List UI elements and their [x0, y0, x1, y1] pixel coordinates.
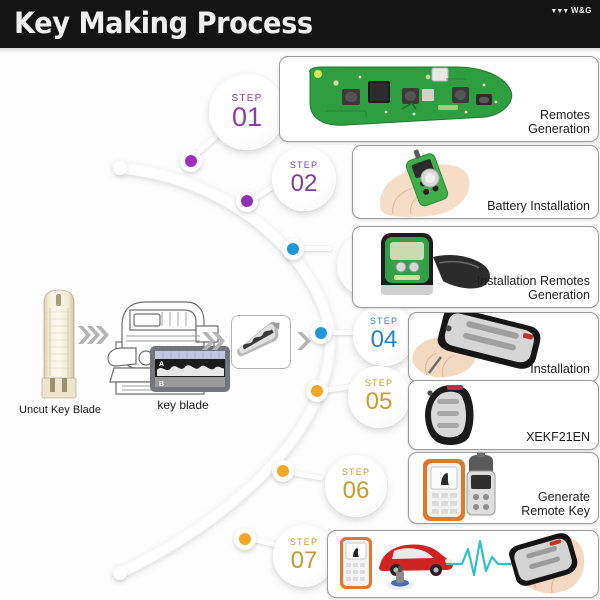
step-bubble-01[interactable]: STEP 01	[209, 74, 285, 150]
arc-dot-06-fill	[277, 465, 289, 477]
uncut-key-blade-caption: Uncut Key Blade	[14, 404, 106, 416]
arc-dot-04-fill	[315, 327, 327, 339]
chevron-arrow-3-icon	[296, 330, 312, 352]
programmer-car-signal-hand-remote-icon	[328, 531, 598, 597]
header-shadow	[0, 48, 600, 53]
arc-dot-05	[306, 380, 328, 402]
panel-04-caption: Installation	[530, 362, 590, 376]
connector-stub-03	[302, 246, 332, 251]
display-label-a: A	[159, 361, 164, 368]
arc-dot-05-fill	[311, 385, 323, 397]
panel-02-caption: Battery Installation	[487, 199, 590, 213]
arc-dot-01-fill	[185, 155, 197, 167]
step-04-number: 04	[371, 326, 398, 354]
step-05-number: 05	[366, 388, 393, 416]
cut-key-blade-frame	[231, 315, 291, 369]
step-bubble-05[interactable]: STEP 05	[348, 366, 410, 428]
step-01-number: 01	[232, 103, 262, 131]
step-02-number: 02	[291, 170, 318, 198]
panel-01-caption: Remotes Generation	[528, 108, 590, 136]
logo-mark-icon: ▼▼▼	[550, 8, 568, 15]
machine-display-panel: A B	[150, 346, 230, 392]
arc-dot-07-fill	[239, 533, 251, 545]
panel-01[interactable]: Remotes Generation	[279, 56, 599, 142]
step-bubble-06[interactable]: STEP 06	[325, 455, 387, 517]
arc-dot-01	[180, 150, 202, 172]
panel-06-caption: Generate Remote Key	[521, 490, 590, 518]
uncut-key-blade-icon	[34, 288, 84, 400]
brand-logo: ▼▼▼ W&G	[550, 6, 592, 17]
step-bubble-07[interactable]: STEP 07	[273, 525, 335, 587]
step-06-number: 06	[343, 477, 370, 505]
panel-05[interactable]: XEKF21EN	[408, 380, 599, 450]
arc-dot-04	[310, 322, 332, 344]
chevron-arrow-2-icon	[202, 330, 228, 352]
connector-stub-06	[290, 470, 324, 481]
panel-03[interactable]: Installation Remotes Generation	[352, 226, 599, 308]
panel-05-caption: XEKF21EN	[526, 430, 590, 444]
key-blade-caption: key blade	[128, 398, 238, 412]
step-bubble-04[interactable]: STEP 04	[353, 304, 415, 366]
panel-04[interactable]: Installation	[408, 312, 599, 382]
panel-07[interactable]	[327, 530, 599, 598]
panel-02[interactable]: Battery Installation	[352, 145, 599, 219]
step-07-number: 07	[291, 547, 318, 575]
step-bubble-02[interactable]: STEP 02	[272, 147, 336, 211]
arc-dot-03-fill	[287, 243, 299, 255]
cut-key-blade-icon	[232, 316, 288, 366]
display-label-b: B	[159, 381, 164, 388]
arc-dot-06	[272, 460, 294, 482]
panel-03-caption: Installation Remotes Generation	[477, 274, 590, 302]
logo-text: W&G	[571, 6, 592, 15]
arc-dot-02-fill	[241, 195, 253, 207]
infographic-canvas: Key Making Process ▼▼▼ W&G	[0, 0, 600, 600]
panel-06[interactable]: Generate Remote Key	[408, 452, 599, 524]
page-title: Key Making Process	[14, 6, 313, 40]
arc-dot-02	[236, 190, 258, 212]
arc-dot-07	[234, 528, 256, 550]
arc-dot-03	[282, 238, 304, 260]
